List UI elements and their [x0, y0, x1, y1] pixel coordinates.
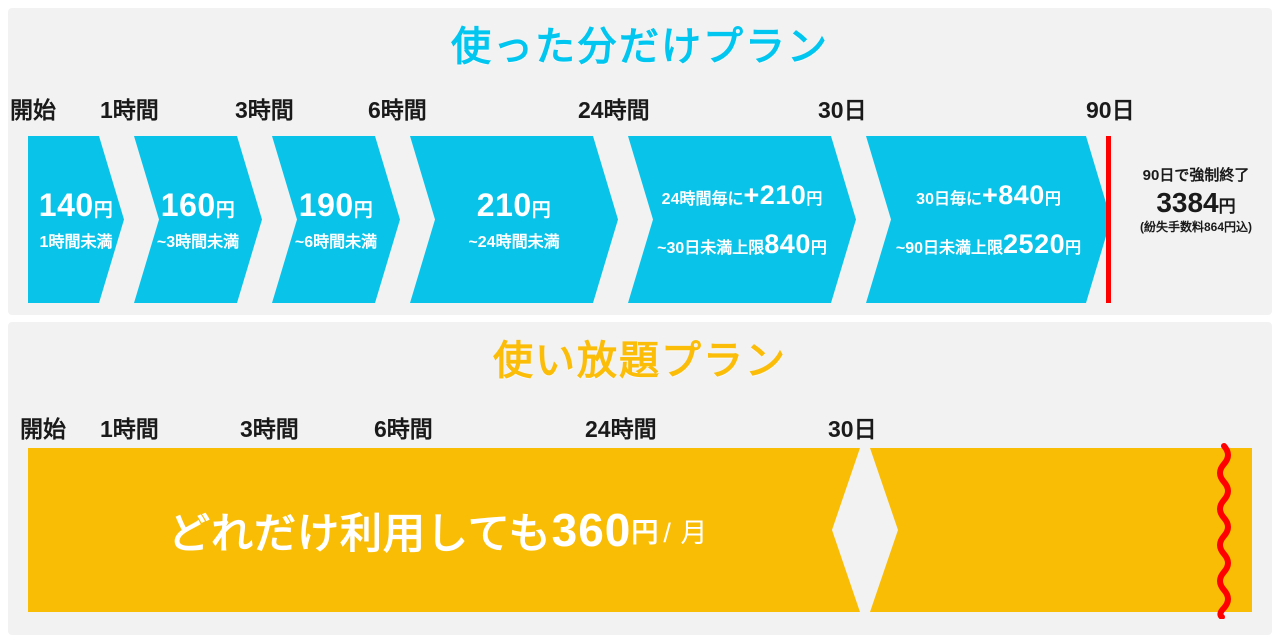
termination-title: 90日で強制終了 — [1120, 168, 1272, 185]
usage-segment-under-90d: 30日毎に+840円 ~90日未満上限2520円 — [866, 136, 1111, 303]
flat-plan-headline: どれだけ利用しても360円/ 月 — [168, 448, 708, 612]
usage-tick-6h: 6時間 — [368, 91, 427, 125]
usage-segment-range: ~3時間未満 — [157, 235, 239, 251]
usage-segment-price: 140円 — [39, 189, 113, 221]
flat-tick-3h: 3時間 — [240, 410, 299, 444]
usage-segment-cap: ~90日未満上限2520円 — [896, 231, 1081, 258]
usage-segment-range: ~6時間未満 — [295, 235, 377, 251]
usage-tick-90d: 90日 — [1086, 91, 1135, 125]
usage-tick-start: 開始 — [10, 91, 56, 125]
flat-tick-start: 開始 — [20, 410, 66, 444]
usage-plan-title: 使った分だけプラン — [0, 14, 1280, 72]
usage-tick-24h: 24時間 — [578, 91, 650, 125]
usage-segment-range: 1時間未満 — [40, 235, 113, 251]
usage-segment-under-1h: 140円 1時間未満 — [28, 136, 124, 303]
usage-segment-under-30d: 24時間毎に+210円 ~30日未満上限840円 — [628, 136, 856, 303]
termination-fine-print: (紛失手数料864円込) — [1120, 221, 1272, 234]
usage-segment-increment: 24時間毎に+210円 — [662, 182, 823, 209]
usage-segment-under-3h: 160円 ~3時間未満 — [134, 136, 262, 303]
usage-segment-price: 190円 — [299, 189, 373, 221]
usage-tick-30d: 30日 — [818, 91, 867, 125]
forced-termination-note: 90日で強制終了 3384円 (紛失手数料864円込) — [1120, 168, 1272, 234]
usage-plan-chevron-band: 140円 1時間未満 160円 ~3時間未満 190円 ~6時間未満 210円 … — [0, 136, 1280, 303]
forced-termination-line-icon — [1106, 136, 1111, 303]
flat-plan-continuation-squiggle-icon — [1213, 443, 1235, 619]
usage-segment-increment: 30日毎に+840円 — [916, 182, 1061, 209]
usage-tick-1h: 1時間 — [100, 91, 159, 125]
flat-tick-6h: 6時間 — [374, 410, 433, 444]
termination-amount: 3384円 — [1120, 189, 1272, 217]
usage-segment-price: 210円 — [477, 189, 551, 221]
usage-tick-3h: 3時間 — [235, 91, 294, 125]
usage-segment-under-24h: 210円 ~24時間未満 — [410, 136, 618, 303]
flat-tick-1h: 1時間 — [100, 410, 159, 444]
flat-plan-title: 使い放題プラン — [0, 328, 1280, 386]
usage-segment-under-6h: 190円 ~6時間未満 — [272, 136, 400, 303]
flat-tick-30d: 30日 — [828, 410, 877, 444]
flat-plan-bar: どれだけ利用しても360円/ 月 — [28, 448, 1252, 612]
usage-segment-cap: ~30日未満上限840円 — [657, 231, 827, 258]
usage-segment-price: 160円 — [161, 189, 235, 221]
usage-segment-range: ~24時間未満 — [468, 235, 559, 251]
flat-tick-24h: 24時間 — [585, 410, 657, 444]
pricing-comparison-infographic: 使った分だけプラン 開始 1時間 3時間 6時間 24時間 30日 90日 14… — [0, 0, 1280, 643]
flat-bar-segment-right — [870, 448, 1252, 612]
